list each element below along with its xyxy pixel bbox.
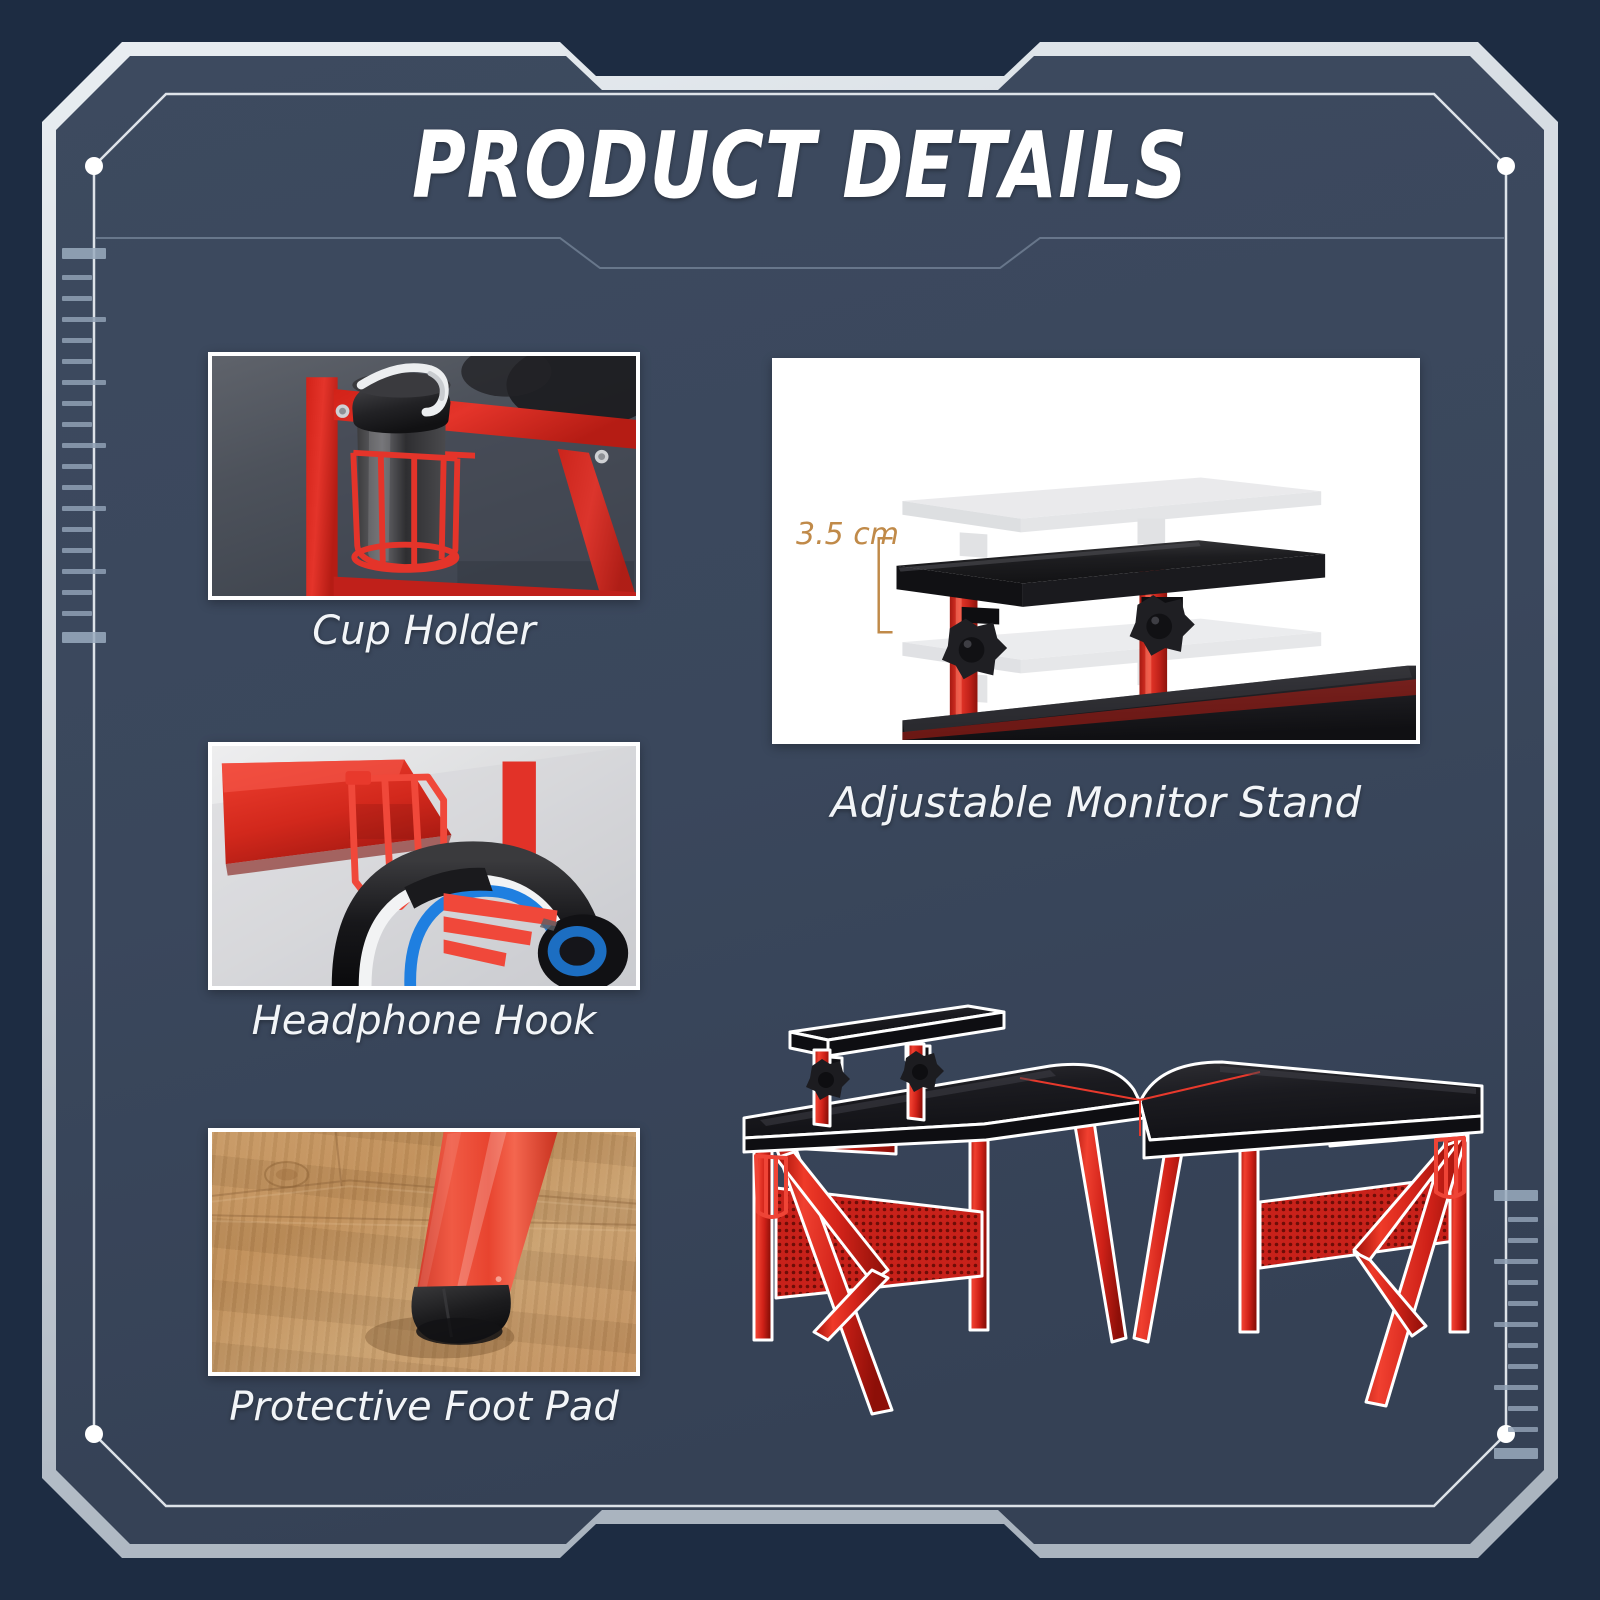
feature-caption-headphone-hook: Headphone Hook — [208, 998, 640, 1044]
ruler-tick — [1508, 1406, 1538, 1411]
ruler-tick — [62, 248, 106, 259]
ruler-tick — [62, 464, 92, 469]
ruler-tick — [1508, 1427, 1538, 1432]
feature-caption-cup-holder: Cup Holder — [208, 608, 640, 654]
gaming-desk-illustration — [720, 940, 1500, 1460]
ruler-tick — [62, 590, 92, 595]
feature-image-adjustable-monitor-stand: 3.5 cm — [772, 358, 1420, 744]
ruler-tick — [62, 296, 92, 301]
ruler-tick — [62, 443, 106, 448]
ruler-tick — [1508, 1280, 1538, 1285]
headphone-hook-illustration — [212, 746, 636, 986]
ruler-tick — [1494, 1322, 1538, 1327]
cup-holder-illustration — [212, 356, 636, 596]
ruler-tick — [1508, 1364, 1538, 1369]
ruler-tick — [62, 527, 92, 532]
feature-image-protective-foot-pad — [208, 1128, 640, 1376]
hero-product-image — [720, 940, 1500, 1460]
ruler-tick — [62, 611, 92, 616]
ruler-tick — [62, 485, 92, 490]
page-title: PRODUCT DETAILS — [160, 112, 1440, 219]
ruler-scale-left — [62, 248, 110, 659]
dimension-label-3-5cm: 3.5 cm — [796, 517, 899, 552]
ruler-tick — [1494, 1190, 1538, 1201]
ruler-tick — [62, 506, 106, 511]
feature-caption-protective-foot-pad: Protective Foot Pad — [208, 1384, 640, 1430]
ruler-tick — [1508, 1343, 1538, 1348]
feature-image-headphone-hook — [208, 742, 640, 990]
ruler-tick — [62, 401, 92, 406]
feature-caption-adjustable-monitor-stand: Adjustable Monitor Stand — [772, 778, 1420, 827]
ruler-tick — [62, 632, 106, 643]
ruler-tick — [1508, 1217, 1538, 1222]
ruler-tick — [62, 317, 106, 322]
foot-pad-illustration — [212, 1132, 636, 1372]
ruler-tick — [1494, 1448, 1538, 1459]
ruler-tick — [1508, 1301, 1538, 1306]
ruler-tick — [62, 569, 106, 574]
ruler-tick — [1494, 1385, 1538, 1390]
ruler-tick — [1508, 1238, 1538, 1243]
ruler-tick — [62, 548, 92, 553]
ruler-tick — [62, 338, 92, 343]
ruler-tick — [62, 359, 92, 364]
ruler-tick — [62, 422, 92, 427]
ruler-tick — [62, 275, 92, 280]
ruler-tick — [62, 380, 106, 385]
feature-image-cup-holder — [208, 352, 640, 600]
ruler-tick — [1494, 1259, 1538, 1264]
